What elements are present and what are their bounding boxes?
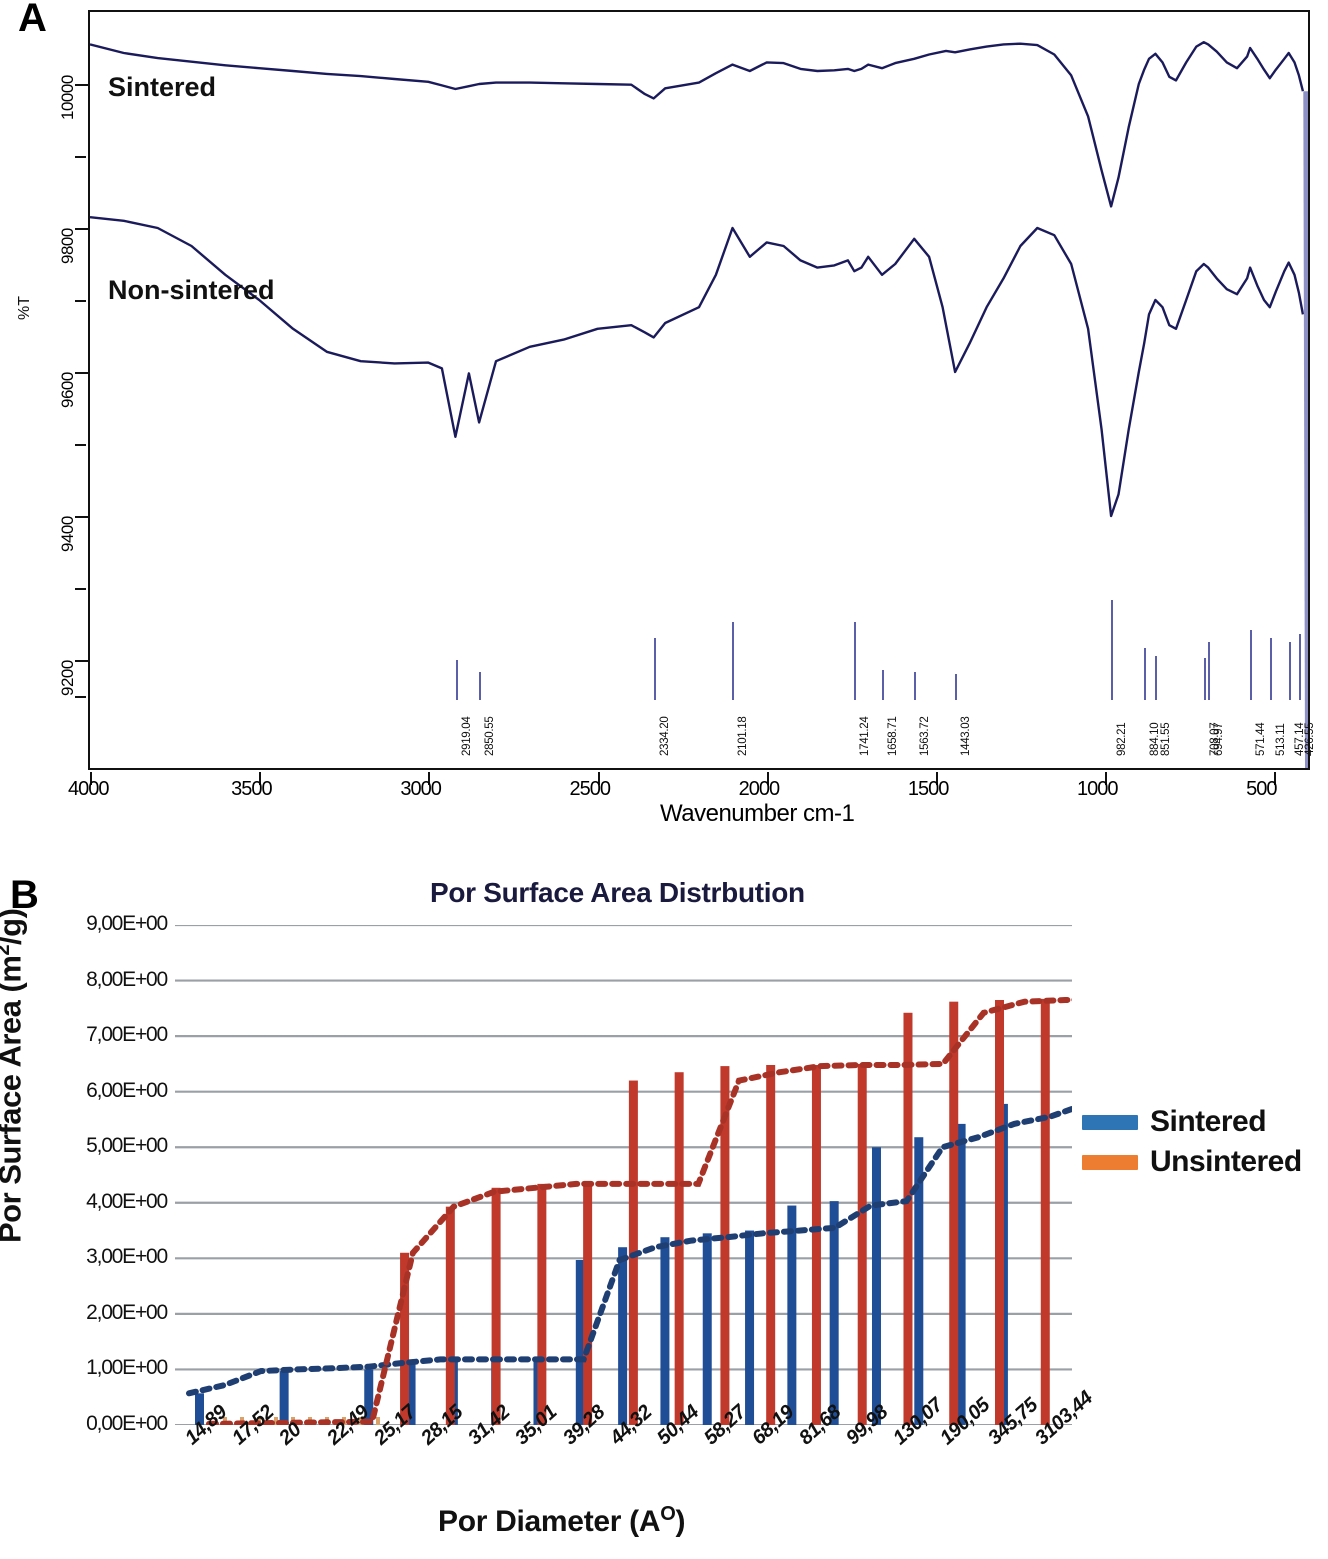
ftir-x-axis-title: Wavenumber cm-1 <box>660 800 854 828</box>
ftir-x-tick-label: 2500 <box>570 778 611 801</box>
chart-title: Por Surface Area Distrbution <box>430 877 805 909</box>
bar-chart-legend: SinteredUnsintered <box>1082 1105 1328 1185</box>
ftir-peak-label: 2850.55 <box>484 717 496 756</box>
bar-unsintered <box>995 1000 1004 1425</box>
ftir-peak-tick <box>1208 642 1210 700</box>
ftir-peak-tick <box>732 622 734 700</box>
bar-unsintered <box>446 1207 455 1425</box>
ftir-x-tick-label: 1000 <box>1077 778 1118 801</box>
ftir-x-tick-label: 3500 <box>231 778 272 801</box>
ftir-x-tick-label: 2000 <box>739 778 780 801</box>
bar-chart-svg <box>175 925 1072 1425</box>
ftir-peak-label: 1741.24 <box>859 717 871 756</box>
legend-label-unsintered: Unsintered <box>1150 1145 1302 1179</box>
ftir-peak-tick <box>1155 656 1157 700</box>
ftir-peak-tick <box>1270 638 1272 700</box>
bar-chart-y-tick-label: 2,00E+00 <box>55 1301 167 1325</box>
bar-unsintered <box>812 1065 821 1425</box>
ftir-peak-tick <box>854 622 856 700</box>
ftir-plot-frame <box>88 10 1310 770</box>
ftir-peak-tick <box>1299 634 1301 700</box>
bar-unsintered <box>1041 999 1050 1425</box>
ftir-peak-tick <box>654 638 656 700</box>
ftir-y-tick-label: 9800 <box>58 228 78 264</box>
ftir-peak-tick <box>1289 642 1291 700</box>
bar-chart-x-axis-title: Por Diameter (AO) <box>438 1503 685 1539</box>
ftir-peak-label: 851.55 <box>1160 723 1172 756</box>
ftir-peak-label: 1658.71 <box>887 717 899 756</box>
bar-unsintered <box>492 1188 501 1425</box>
bar-sintered <box>280 1371 289 1425</box>
ftir-peak-label: 1563.72 <box>919 717 931 756</box>
bar-unsintered <box>583 1184 592 1425</box>
bar-unsintered <box>766 1065 775 1425</box>
ftir-y-tick-label: 9400 <box>58 516 78 552</box>
ftir-x-tick-label: 1500 <box>908 778 949 801</box>
bar-sintered <box>872 1147 881 1425</box>
curve-label-sintered: Sintered <box>108 72 216 103</box>
bar-sintered <box>830 1201 839 1425</box>
ftir-peak-tick <box>914 672 916 700</box>
bar-chart-y-tick-label: 3,00E+00 <box>55 1245 167 1269</box>
bar-chart-y-tick-label: 7,00E+00 <box>55 1023 167 1047</box>
legend-item-unsintered[interactable]: Unsintered <box>1082 1145 1328 1179</box>
ftir-peak-label: 457.14 <box>1294 723 1306 756</box>
ftir-peak-label: 513.11 <box>1275 723 1287 756</box>
ftir-peak-label: 571.44 <box>1255 723 1267 756</box>
ftir-curves <box>90 12 1308 768</box>
bar-chart-y-tick-label: 6,00E+00 <box>55 1079 167 1103</box>
ftir-y-axis-title: %T <box>16 296 34 320</box>
ftir-peak-tick <box>479 672 481 700</box>
legend-swatch-unsintered <box>1082 1155 1138 1170</box>
ftir-y-minor-tick <box>75 696 86 698</box>
bar-unsintered <box>903 1013 912 1425</box>
cumulative-line-unsintered <box>209 999 1072 1424</box>
ftir-peak-tick <box>882 670 884 700</box>
ftir-y-minor-tick <box>75 156 86 158</box>
bar-unsintered <box>858 1064 867 1425</box>
legend-swatch-sintered <box>1082 1115 1138 1130</box>
bar-unsintered <box>675 1072 684 1425</box>
bar-sintered <box>787 1206 796 1425</box>
ftir-x-tick-label: 3000 <box>400 778 441 801</box>
bar-sintered <box>618 1247 627 1425</box>
legend-label-sintered: Sintered <box>1150 1105 1266 1139</box>
ftir-peak-tick <box>1204 658 1206 700</box>
spectrum-right-edge <box>1306 91 1308 768</box>
bar-chart-y-tick-label: 1,00E+00 <box>55 1356 167 1380</box>
bar-chart-y-tick-label: 0,00E+00 <box>55 1412 167 1436</box>
legend-item-sintered[interactable]: Sintered <box>1082 1105 1328 1139</box>
ftir-peak-tick <box>1111 600 1113 700</box>
spectrum-curve-non-sintered <box>90 217 1303 516</box>
ftir-y-tick-label: 9600 <box>58 372 78 408</box>
ftir-peak-tick <box>456 660 458 700</box>
ftir-peak-label: 2334.20 <box>659 717 671 756</box>
ftir-peak-label: 2101.18 <box>737 717 749 756</box>
bar-unsintered <box>537 1184 546 1425</box>
ftir-y-minor-tick <box>75 588 86 590</box>
ftir-x-tick-label: 500 <box>1246 778 1276 801</box>
ftir-y-minor-tick <box>75 444 86 446</box>
ftir-peak-label: 982.21 <box>1116 723 1128 756</box>
bar-unsintered <box>949 1002 958 1425</box>
ftir-peak-tick <box>955 674 957 700</box>
ftir-peak-label: 2919.04 <box>461 717 473 756</box>
curve-label-non-sintered: Non-sintered <box>108 275 275 306</box>
ftir-y-tick-label: 10000 <box>58 75 78 120</box>
bar-chart-plot-area <box>175 925 1072 1425</box>
ftir-peak-tick <box>1144 648 1146 700</box>
bar-sintered <box>745 1231 754 1425</box>
panel-a-ftir-spectrum: A 100009800960094009200 %T 4000350030002… <box>0 0 1328 855</box>
bar-chart-y-tick-label: 5,00E+00 <box>55 1134 167 1158</box>
bar-chart-y-tick-label: 9,00E+00 <box>55 912 167 936</box>
bar-chart-y-tick-label: 8,00E+00 <box>55 968 167 992</box>
bar-sintered <box>703 1233 712 1425</box>
spectrum-curve-sintered <box>90 42 1303 206</box>
ftir-y-minor-tick <box>75 300 86 302</box>
panel-b-pore-surface-area: B Por Surface Area Distrbution 9,00E+008… <box>0 855 1328 1559</box>
ftir-peak-tick <box>1250 630 1252 700</box>
bar-sintered <box>660 1237 669 1425</box>
ftir-peak-label: 694.97 <box>1213 723 1225 756</box>
panel-a-letter: A <box>18 0 47 41</box>
ftir-peak-label: 1443.03 <box>960 717 972 756</box>
bar-chart-y-axis-title: Por Surface Area (m2/g) <box>0 909 28 1243</box>
ftir-x-tick-label: 4000 <box>68 778 109 801</box>
bar-chart-y-tick-label: 4,00E+00 <box>55 1190 167 1214</box>
ftir-y-tick-label: 9200 <box>58 660 78 696</box>
